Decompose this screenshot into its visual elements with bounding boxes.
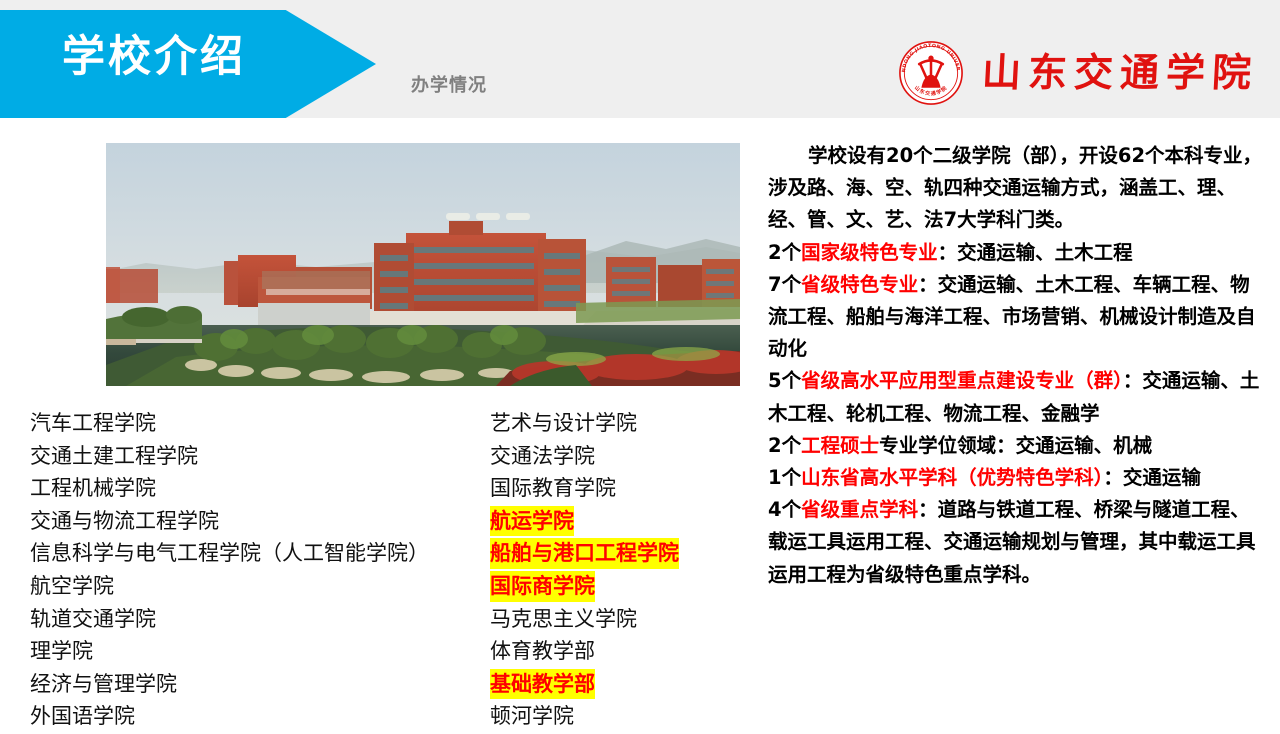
- list-item: 马克思主义学院: [490, 604, 730, 637]
- slide-root: 学校介绍 办学情况 SHANDONG JIAOTONG UNIVERSITY 山…: [0, 0, 1280, 720]
- list-item: 艺术与设计学院: [490, 408, 730, 441]
- overview-paragraph: 5个省级高水平应用型重点建设专业（群）：交通运输、土木工程、轮机工程、物流工程、…: [768, 365, 1268, 429]
- list-item: 交通与物流工程学院: [30, 506, 490, 539]
- list-item-highlighted: 船舶与港口工程学院: [490, 538, 730, 571]
- list-item: 顿河学院: [490, 701, 730, 734]
- overview-paragraph: 学校设有20个二级学院（部），开设62个本科专业，涉及路、海、空、轨四种交通运输…: [768, 140, 1268, 237]
- text-run: 1个: [768, 466, 801, 489]
- highlight-run: 省级高水平应用型重点建设专业（群）: [801, 369, 1123, 392]
- university-seal-icon: SHANDONG JIAOTONG UNIVERSITY 山东交通学院: [894, 36, 968, 110]
- overview-paragraph: 2个工程硕士专业学位领域：交通运输、机械: [768, 430, 1268, 462]
- overview-paragraph: 7个省级特色专业：交通运输、土木工程、车辆工程、物流工程、船舶与海洋工程、市场营…: [768, 269, 1268, 366]
- highlight-run: 工程硕士: [801, 434, 879, 457]
- university-wordmark: 山东交通学院: [981, 54, 1259, 93]
- college-column-right: 艺术与设计学院 交通法学院 国际教育学院 航运学院 船舶与港口工程学院 国际商学…: [490, 408, 730, 734]
- list-item: 外国语学院: [30, 701, 490, 734]
- college-column-left: 汽车工程学院 交通土建工程学院 工程机械学院 交通与物流工程学院 信息科学与电气…: [30, 408, 490, 734]
- text-run: 5个: [768, 369, 801, 392]
- overview-paragraph: 1个山东省高水平学科（优势特色学科）：交通运输: [768, 462, 1268, 494]
- text-run: 专业学位领域：交通运输、机械: [879, 434, 1152, 457]
- list-item: 信息科学与电气工程学院（人工智能学院）: [30, 538, 490, 571]
- overview-text-block: 学校设有20个二级学院（部），开设62个本科专业，涉及路、海、空、轨四种交通运输…: [768, 140, 1268, 591]
- list-item: 轨道交通学院: [30, 604, 490, 637]
- text-run: ：交通运输: [1103, 466, 1201, 489]
- list-item: 国际教育学院: [490, 473, 730, 506]
- list-item: 经济与管理学院: [30, 669, 490, 702]
- list-item: 交通土建工程学院: [30, 441, 490, 474]
- text-run: ：交通运输、土木工程: [938, 241, 1133, 264]
- highlight-run: 省级特色专业: [801, 273, 918, 296]
- list-item-highlighted: 基础教学部: [490, 669, 730, 702]
- campus-photo: [106, 143, 740, 386]
- college-list: 汽车工程学院 交通土建工程学院 工程机械学院 交通与物流工程学院 信息科学与电气…: [30, 408, 730, 734]
- text-run: 7个: [768, 273, 801, 296]
- list-item: 体育教学部: [490, 636, 730, 669]
- highlight-run: 山东省高水平学科（优势特色学科）: [801, 466, 1103, 489]
- page-title: 学校介绍: [62, 36, 246, 79]
- highlight-run: 国家级特色专业: [801, 241, 938, 264]
- overview-paragraph: 2个国家级特色专业：交通运输、土木工程: [768, 237, 1268, 269]
- text-run: 2个: [768, 434, 801, 457]
- header-subtitle: 办学情况: [411, 71, 487, 97]
- text-run: 2个: [768, 241, 801, 264]
- university-logo: SHANDONG JIAOTONG UNIVERSITY 山东交通学院 山东交通…: [894, 36, 1258, 110]
- highlight-run: 省级重点学科: [801, 498, 918, 521]
- list-item-highlighted: 航运学院: [490, 506, 730, 539]
- list-item-highlighted: 国际商学院: [490, 571, 730, 604]
- list-item: 工程机械学院: [30, 473, 490, 506]
- overview-paragraph: 4个省级重点学科：道路与铁道工程、桥梁与隧道工程、载运工具运用工程、交通运输规划…: [768, 494, 1268, 591]
- list-item: 汽车工程学院: [30, 408, 490, 441]
- list-item: 航空学院: [30, 571, 490, 604]
- text-run: 学校设有20个二级学院（部），开设62个本科专业，涉及路、海、空、轨四种交通运输…: [768, 144, 1262, 231]
- list-item: 交通法学院: [490, 441, 730, 474]
- text-run: 4个: [768, 498, 801, 521]
- list-item: 理学院: [30, 636, 490, 669]
